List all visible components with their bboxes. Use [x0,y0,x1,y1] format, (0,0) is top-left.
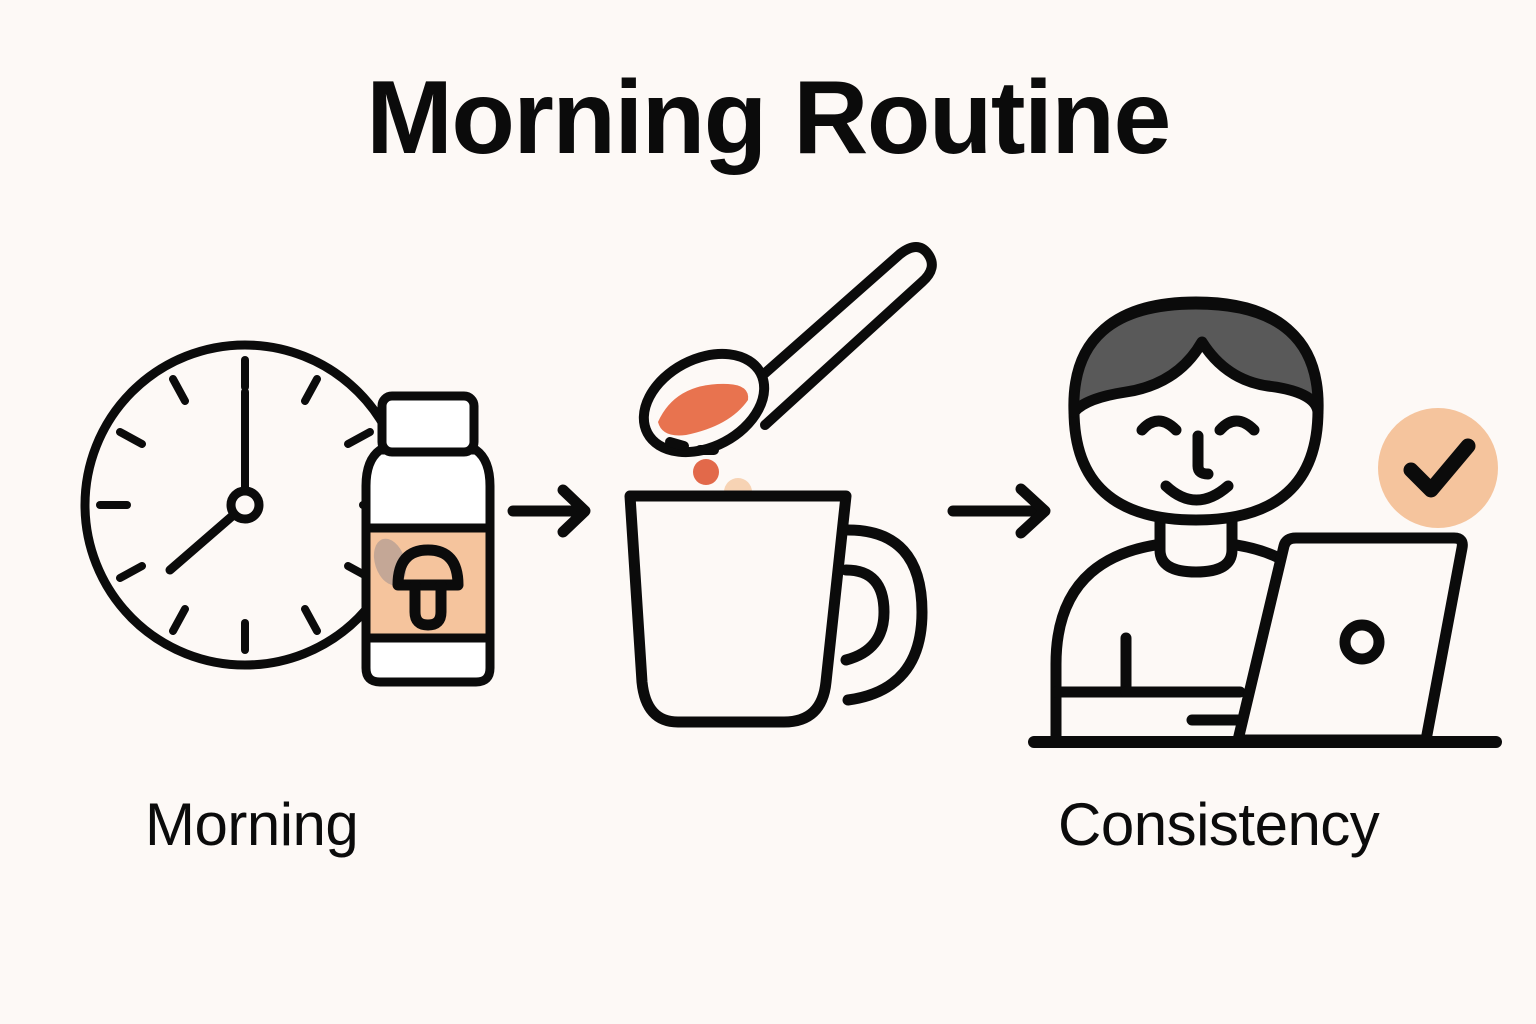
page-title: Morning Routine [0,66,1536,170]
step-mix-group [600,230,960,740]
step-consistency-group [1030,280,1500,750]
mug-icon [630,496,922,722]
clock-icon [85,345,405,665]
arrow-right-icon [513,490,585,532]
bottle-cap [382,396,474,452]
supplement-bottle-icon [366,396,490,682]
measuring-spoon-icon [627,247,932,472]
step-caption-morning: Morning [145,790,358,859]
powder-particle [693,459,719,485]
infographic-canvas: Morning Routine [0,0,1536,1024]
clock-center-hub [231,491,259,519]
step-morning-group [60,300,530,730]
laptop-logo [1345,625,1379,659]
check-badge-icon [1378,408,1498,528]
step-caption-consistency: Consistency [1058,790,1379,859]
arrow-one [505,475,605,545]
badge-circle [1378,408,1498,528]
